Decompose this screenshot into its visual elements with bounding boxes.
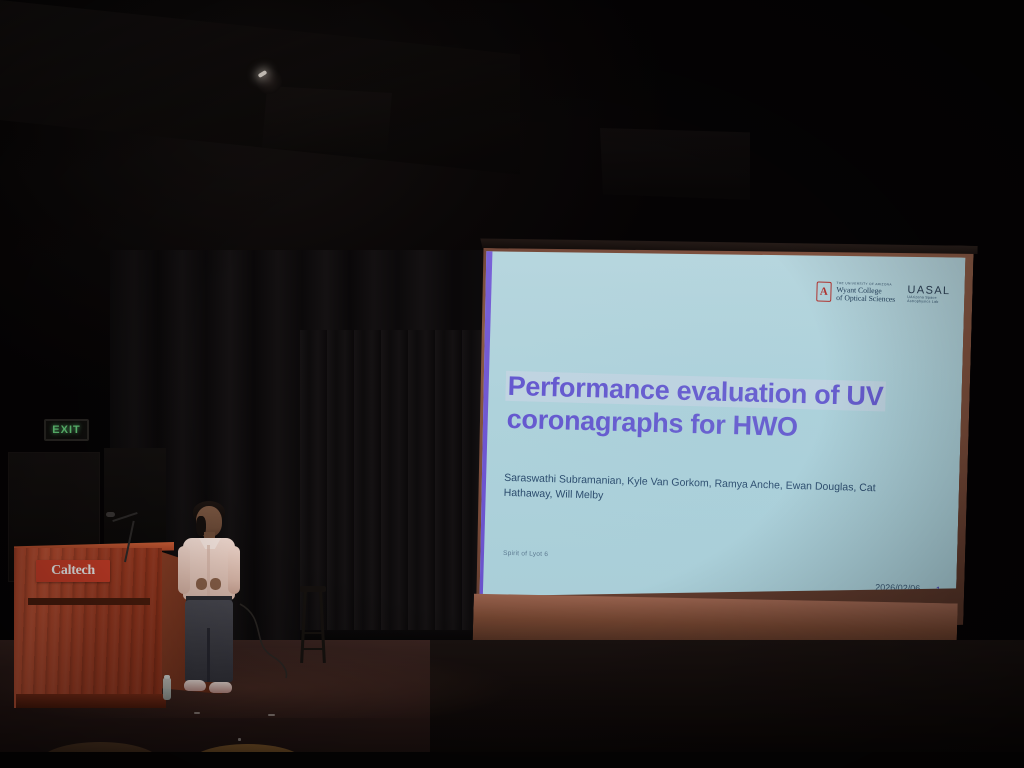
slide-event-label: Spirit of Lyot 6 xyxy=(503,550,548,558)
exit-sign-label: EXIT xyxy=(52,424,80,436)
speaker-shoe-right xyxy=(209,682,232,693)
speaker-shirt-placket xyxy=(207,545,210,597)
podium-base xyxy=(16,694,166,708)
water-bottle xyxy=(163,678,171,700)
arizona-a-mark: A xyxy=(816,281,832,301)
speaker-shoe-left xyxy=(184,680,206,691)
stool-leg xyxy=(319,591,326,663)
uasal-subtitle-line2: Astrophysics Lab xyxy=(907,300,950,305)
stage-cable xyxy=(238,600,298,680)
floor-debris xyxy=(194,712,200,714)
stage-stool xyxy=(300,586,326,662)
slide-logos: A THE UNIVERSITY OF ARIZONA Wyant Colleg… xyxy=(816,281,951,305)
caltech-label: Caltech xyxy=(51,563,95,579)
speaker-hand-left xyxy=(196,578,207,590)
ceiling-panel-secondary xyxy=(600,128,750,200)
caltech-nameplate: Caltech xyxy=(36,560,110,582)
stool-rung xyxy=(302,648,325,650)
foreground-shadow xyxy=(0,752,1024,768)
arizona-logo-text: THE UNIVERSITY OF ARIZONA Wyant College … xyxy=(836,282,896,303)
projection-screen: A THE UNIVERSITY OF ARIZONA Wyant Colleg… xyxy=(465,232,1024,707)
arizona-logo: A THE UNIVERSITY OF ARIZONA Wyant Colleg… xyxy=(816,281,896,303)
exit-sign: EXIT xyxy=(44,419,89,441)
screen-surface: A THE UNIVERSITY OF ARIZONA Wyant Colleg… xyxy=(474,244,966,609)
microphone-head xyxy=(106,512,115,517)
speaker-hand-right xyxy=(210,578,221,590)
floor-debris xyxy=(268,714,275,716)
presentation-slide: A THE UNIVERSITY OF ARIZONA Wyant Colleg… xyxy=(474,244,966,609)
arizona-college-line2: of Optical Sciences xyxy=(836,294,895,304)
floor-debris xyxy=(238,738,241,741)
speaker-arm-left xyxy=(178,546,190,594)
uasal-logo: UASAL UArizona Space Astrophysics Lab xyxy=(907,284,951,305)
slide-authors: Saraswathi Subramanian, Kyle Van Gorkom,… xyxy=(503,471,924,513)
slide-title: Performance evaluation of UV coronagraph… xyxy=(504,371,936,448)
stool-rung xyxy=(302,632,324,634)
ceiling-panel xyxy=(262,86,392,156)
speaker-arm-right xyxy=(228,546,240,594)
auditorium-photo: EXIT A THE UNIVERSITY OF ARIZONA Wyant C… xyxy=(0,0,1024,768)
speaker-leg-seam xyxy=(207,628,210,682)
stool-leg xyxy=(300,591,307,663)
podium-shelf-slot xyxy=(28,598,150,605)
